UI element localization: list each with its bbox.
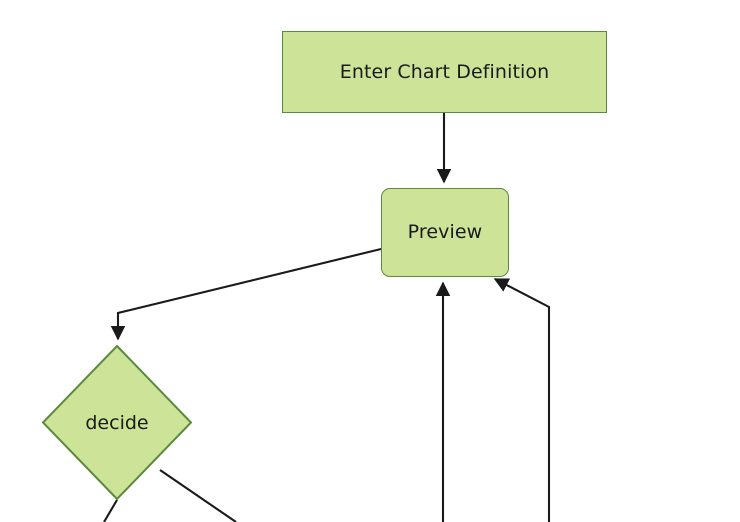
edge-preview-to-decide	[118, 249, 381, 339]
node-label-decide: decide	[42, 345, 192, 500]
edge-right-into-preview	[495, 279, 549, 522]
node-label-enter-chart-definition: Enter Chart Definition	[340, 61, 550, 84]
node-preview[interactable]: Preview	[381, 188, 509, 277]
flowchart-canvas: Enter Chart Definition Preview decide	[0, 0, 740, 522]
node-decide[interactable]: decide	[42, 345, 192, 500]
node-enter-chart-definition[interactable]: Enter Chart Definition	[282, 31, 607, 113]
node-label-preview: Preview	[408, 221, 483, 244]
edge-decide-bottom-left	[104, 500, 117, 522]
